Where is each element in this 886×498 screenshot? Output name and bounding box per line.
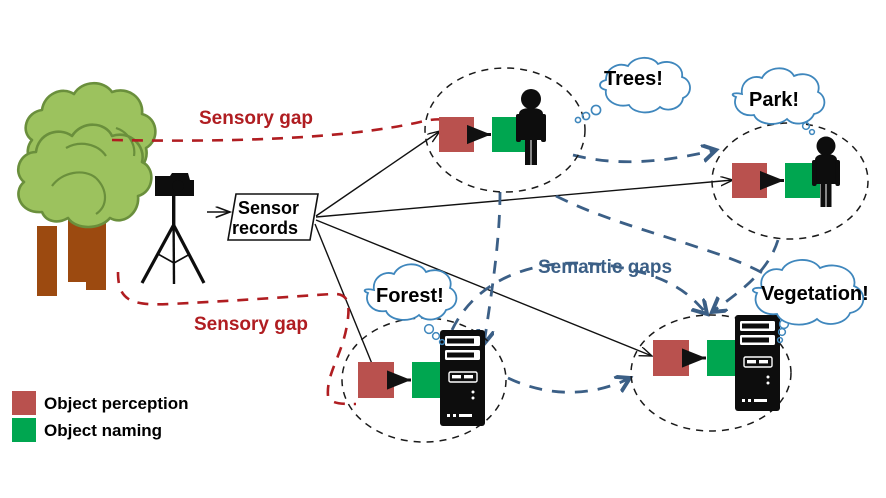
agent-trees[interactable] [425, 68, 585, 192]
sensory-gap-top-label: Sensory gap [199, 108, 313, 129]
agent-trees-human-icon [516, 89, 546, 165]
edge-sensor-to-park [316, 180, 733, 217]
thought-bubble-park-text: Park! [749, 89, 799, 111]
sensor-records-line1: Sensor [238, 198, 299, 218]
agent-park[interactable] [712, 123, 868, 239]
sensory-gap-bottom-label: Sensory gap [194, 314, 308, 335]
link-trees-park [573, 150, 716, 162]
legend-swatch-object-perception [12, 391, 36, 415]
agent-forest-perception-box [358, 362, 394, 398]
link-forest-vegetation [508, 378, 630, 392]
agent-trees-perception-box [439, 117, 474, 152]
agent-vegetation[interactable] [631, 315, 791, 431]
agent-vegetation-perception-box [653, 340, 689, 376]
agent-forest-computer-icon [440, 330, 485, 426]
sensory-gap-bottom-curve [118, 272, 356, 404]
thought-bubble-vegetation-text: Vegetation! [761, 283, 869, 305]
diagram-canvas: Sensory gap Sensory gap Semantic gaps [0, 0, 886, 498]
legend-label-object-naming: Object naming [44, 421, 162, 440]
thought-bubble-trees: Trees! [575, 58, 690, 123]
agent-forest[interactable] [342, 318, 506, 442]
diagram-svg: Sensory gap Sensory gap Semantic gaps [0, 0, 886, 498]
sensor-records-line2: records [232, 218, 298, 238]
sensor-to-agent-edges [315, 131, 733, 376]
camera-on-tripod-icon [142, 173, 204, 284]
legend: Object perception Object naming [12, 391, 189, 442]
thought-bubble-trees-text: Trees! [604, 68, 663, 90]
legend-swatch-object-naming [12, 418, 36, 442]
edge-sensor-to-trees [316, 131, 440, 216]
tree-illustration [18, 83, 155, 296]
thought-bubble-forest-text: Forest! [376, 285, 444, 307]
semantic-gaps-label: Semantic gaps [538, 257, 672, 278]
sensory-gap-curves [112, 119, 452, 404]
legend-label-object-perception: Object perception [44, 394, 189, 413]
agent-vegetation-computer-icon [735, 315, 780, 411]
link-trees-forest [484, 192, 500, 344]
agent-park-perception-box [732, 163, 767, 198]
